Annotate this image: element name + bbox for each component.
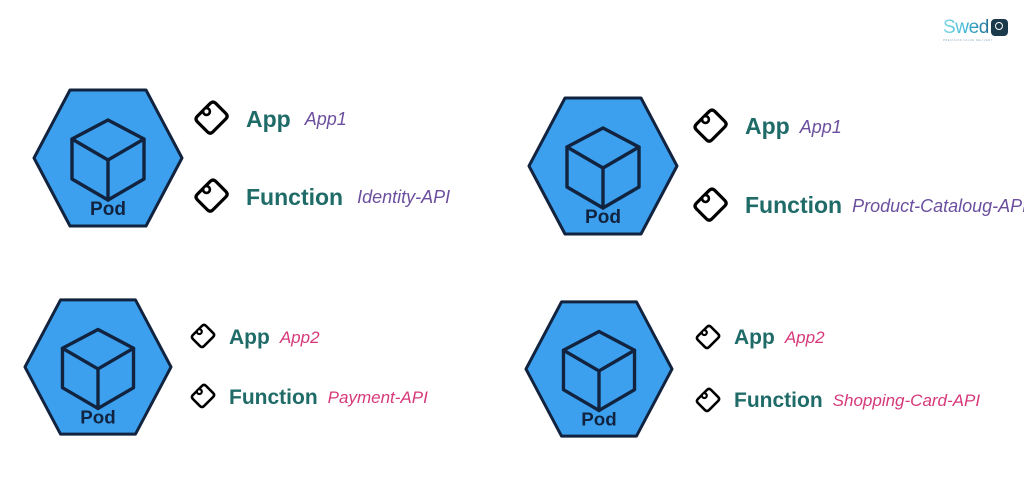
logo-tagline: PRECISION VALUE DELIVERY [943,39,993,42]
swedq-logo: Swed PRECISION VALUE DELIVERY [943,16,1013,48]
tag-icon [694,323,724,353]
tag-icon [192,98,234,140]
app-row: App App2 [189,322,428,352]
tag-icon [691,106,733,148]
function-value: Payment-API [328,389,428,406]
app-row: App App1 [691,106,1024,148]
app-key: App [246,108,291,131]
app-value: App2 [280,329,320,346]
logo-row: Swed [943,16,1008,38]
function-row: Function Payment-API [189,382,428,412]
app-key: App [745,115,790,138]
function-key: Function [246,186,343,209]
function-key: Function [745,194,842,217]
tag-icon [189,322,219,352]
app-row: App App1 [192,98,450,140]
pod-hexagon-icon: Pod [527,90,679,242]
pod-label: Pod [585,207,621,228]
pod-hexagon-icon: Pod [524,294,674,444]
pod-labels-2: App App1 Function Product-Cataloug-API [691,106,1024,227]
pod-hexagon-2: Pod [527,90,679,242]
function-row: Function Shopping-Card-API [694,386,980,416]
app-value: App1 [800,118,842,136]
pod-label: Pod [90,199,126,220]
logo-wordmark: Swed [943,18,989,37]
pod-group-2: Pod App App1 Function Product-Cataloug-A… [527,90,1024,242]
pod-group-3: Pod App App2 Function Payment-API [23,292,428,442]
tag-icon [189,382,219,412]
logo-q-mark-icon [991,19,1008,36]
pod-label: Pod [80,406,115,427]
tag-icon [691,185,733,227]
tag-icon [694,386,724,416]
app-row: App App2 [694,323,980,353]
function-row: Function Product-Cataloug-API [691,185,1024,227]
pod-hexagon-3: Pod [23,292,173,442]
function-row: Function Identity-API [192,176,450,218]
pod-group-4: Pod App App2 Function Shopping-Card-API [524,294,980,444]
function-value: Identity-API [357,188,450,206]
pod-hexagon-4: Pod [524,294,674,444]
pod-label: Pod [581,408,616,429]
pod-hexagon-icon: Pod [32,82,184,234]
tag-icon [192,176,234,218]
app-key: App [734,327,775,348]
pod-labels-3: App App2 Function Payment-API [189,322,428,412]
pod-labels-4: App App2 Function Shopping-Card-API [694,323,980,416]
app-key: App [229,327,270,348]
pod-labels-1: App App1 Function Identity-API [192,98,450,218]
app-value: App1 [305,110,347,128]
pod-hexagon-1: Pod [32,82,184,234]
function-value: Product-Cataloug-API [852,197,1024,215]
app-value: App2 [785,329,825,346]
function-value: Shopping-Card-API [833,392,980,409]
pod-group-1: Pod App App1 Function Identity-API [32,82,450,234]
function-key: Function [734,390,823,411]
function-key: Function [229,387,318,408]
pod-hexagon-icon: Pod [23,292,173,442]
